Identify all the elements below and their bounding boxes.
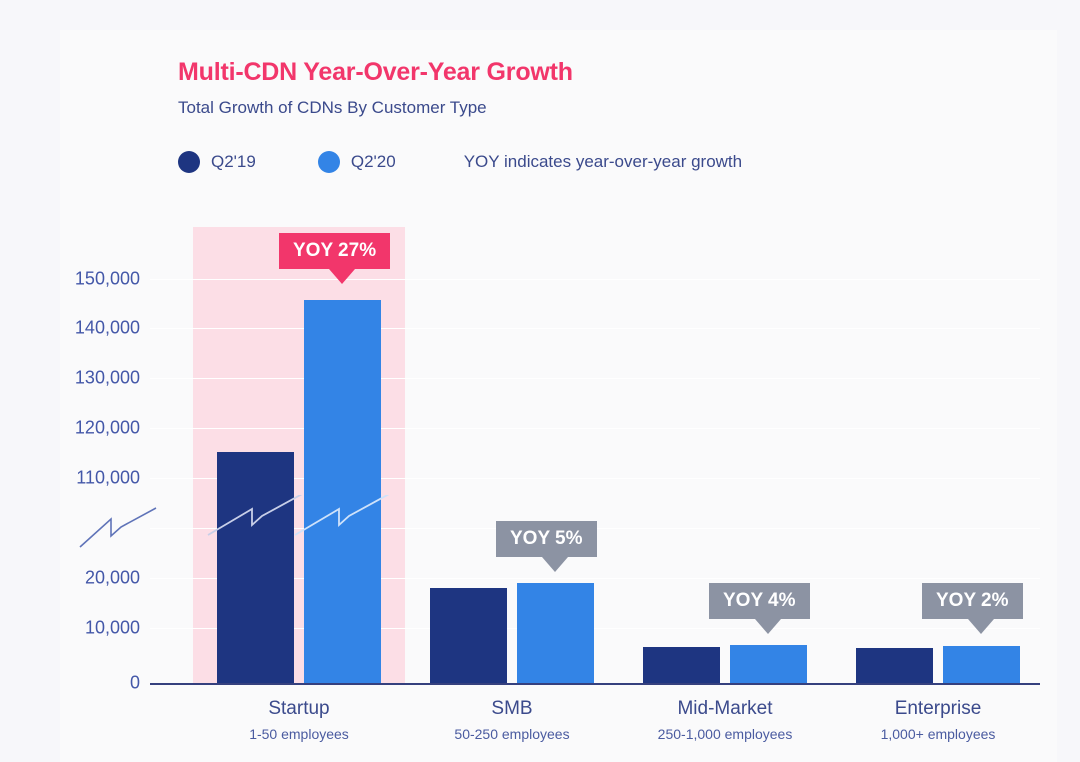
x-category-label: SMB bbox=[397, 698, 627, 720]
x-category-startup: Startup 1-50 employees bbox=[184, 698, 414, 742]
x-category-label: Mid-Market bbox=[610, 698, 840, 720]
x-category-sublabel: 50-250 employees bbox=[397, 726, 627, 742]
x-category-sublabel: 1,000+ employees bbox=[823, 726, 1053, 742]
yoy-badge-midmarket: YOY 4% bbox=[709, 583, 810, 619]
x-category-smb: SMB 50-250 employees bbox=[397, 698, 627, 742]
bar-midmarket-q220 bbox=[730, 645, 807, 683]
bar-midmarket-q219 bbox=[643, 647, 720, 683]
badge-tail bbox=[755, 619, 781, 634]
chart-bars bbox=[0, 0, 1080, 683]
yoy-badge-enterprise: YOY 2% bbox=[922, 583, 1023, 619]
yoy-badge-label: YOY 27% bbox=[293, 240, 376, 261]
yoy-badge-label: YOY 5% bbox=[510, 528, 583, 549]
axis-break-icon-bar-blue bbox=[293, 495, 393, 540]
yoy-badge-label: YOY 2% bbox=[936, 590, 1009, 611]
x-category-label: Enterprise bbox=[823, 698, 1053, 720]
yoy-badge-startup: YOY 27% bbox=[279, 233, 390, 269]
x-category-midmarket: Mid-Market 250-1,000 employees bbox=[610, 698, 840, 742]
bar-smb-q220 bbox=[517, 583, 594, 683]
x-category-label: Startup bbox=[184, 698, 414, 720]
x-category-sublabel: 1-50 employees bbox=[184, 726, 414, 742]
yoy-badge-smb: YOY 5% bbox=[496, 521, 597, 557]
x-category-sublabel: 250-1,000 employees bbox=[610, 726, 840, 742]
badge-tail bbox=[329, 269, 355, 284]
x-axis-baseline bbox=[150, 683, 1040, 685]
bar-smb-q219 bbox=[430, 588, 507, 683]
bar-enterprise-q219 bbox=[856, 648, 933, 683]
x-category-enterprise: Enterprise 1,000+ employees bbox=[823, 698, 1053, 742]
bar-enterprise-q220 bbox=[943, 646, 1020, 683]
bar-startup-q220 bbox=[304, 300, 381, 683]
yoy-badge-label: YOY 4% bbox=[723, 590, 796, 611]
badge-tail bbox=[542, 557, 568, 572]
axis-break-icon-bar-navy bbox=[206, 495, 306, 540]
badge-tail bbox=[968, 619, 994, 634]
bar-startup-q219 bbox=[217, 452, 294, 683]
